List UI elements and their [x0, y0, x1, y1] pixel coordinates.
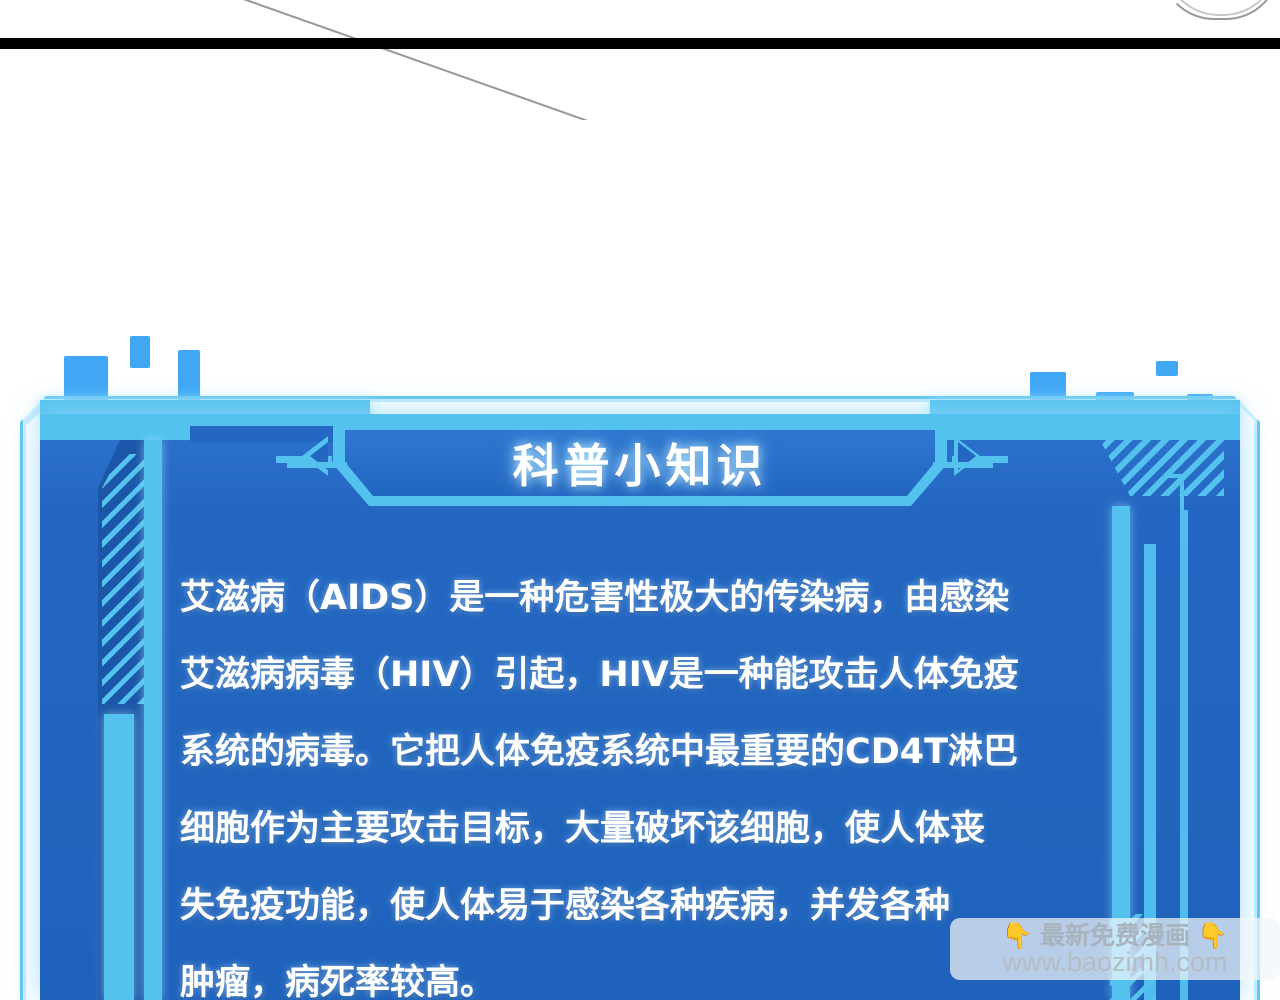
- deco-square-6: [1156, 361, 1178, 376]
- black-divider-bar: [0, 38, 1280, 49]
- body-line: 细胞作为主要攻击目标，大量破坏该细胞，使人体丧: [180, 791, 1100, 868]
- body-line: 艾滋病病毒（HIV）引起，HIV是一种能攻击人体免疫: [180, 637, 1100, 714]
- page-title: 科普小知识: [333, 420, 947, 506]
- diagonal-line-icon: [232, 0, 629, 120]
- body-line: 系统的病毒。它把人体免疫系统中最重要的CD4T淋巴: [180, 714, 1100, 791]
- pointing-down-hand-left-icon: 👇: [1002, 923, 1033, 948]
- title-banner: 科普小知识: [333, 420, 947, 506]
- watermark-promo-row: 👇 最新免费漫画 👇: [1002, 923, 1228, 948]
- left-rail-main: [144, 440, 162, 1000]
- left-hatch-pattern: [102, 454, 144, 704]
- top-strip: [0, 0, 1280, 120]
- deco-square-2: [130, 336, 150, 368]
- body-line: 艾滋病（AIDS）是一种危害性极大的传染病，由感染: [180, 560, 1100, 637]
- left-rail: [104, 714, 134, 1000]
- pointing-down-hand-right-icon: 👇: [1197, 923, 1228, 948]
- page-root: 科普小知识 艾滋病（AIDS）是一种危害性极大的传染病，由感染 艾滋病病毒（HI…: [0, 0, 1280, 1000]
- watermark-promo-text: 最新免费漫画: [1040, 923, 1190, 948]
- site-watermark[interactable]: 👇 最新免费漫画 👇 www.baozimh.com: [950, 918, 1280, 980]
- watermark-url[interactable]: www.baozimh.com: [1002, 949, 1227, 976]
